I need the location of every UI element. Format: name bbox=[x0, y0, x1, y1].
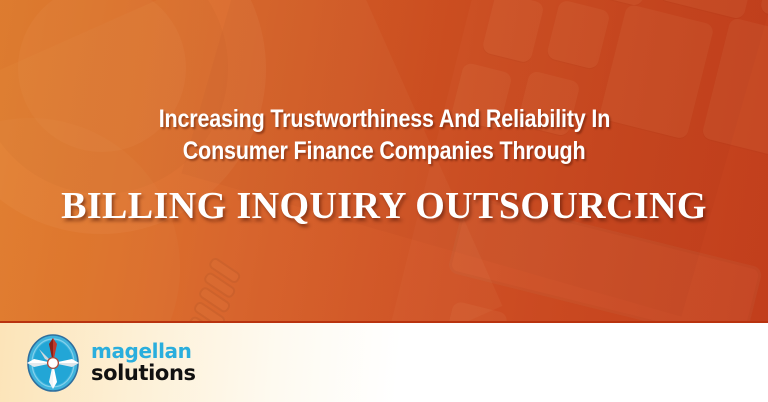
magellan-solutions-logo[interactable]: magellan solutions bbox=[26, 334, 196, 392]
logo-bar: magellan solutions bbox=[0, 321, 768, 402]
banner-kicker-line-2: Consumer Finance Companies Through bbox=[183, 135, 586, 167]
compass-rose-icon bbox=[26, 334, 80, 392]
logo-wordmark-bottom: solutions bbox=[91, 363, 196, 384]
marketing-banner: Increasing Trustworthiness And Reliabili… bbox=[0, 0, 768, 402]
banner-headline: BILLING INQUIRY OUTSOURCING bbox=[61, 185, 707, 227]
logo-wordmark: magellan solutions bbox=[91, 341, 196, 384]
banner-kicker-line-1: Increasing Trustworthiness And Reliabili… bbox=[158, 103, 609, 135]
banner-copy: Increasing Trustworthiness And Reliabili… bbox=[0, 0, 768, 321]
hero-background: Increasing Trustworthiness And Reliabili… bbox=[0, 0, 768, 321]
logo-wordmark-top: magellan bbox=[91, 341, 196, 361]
